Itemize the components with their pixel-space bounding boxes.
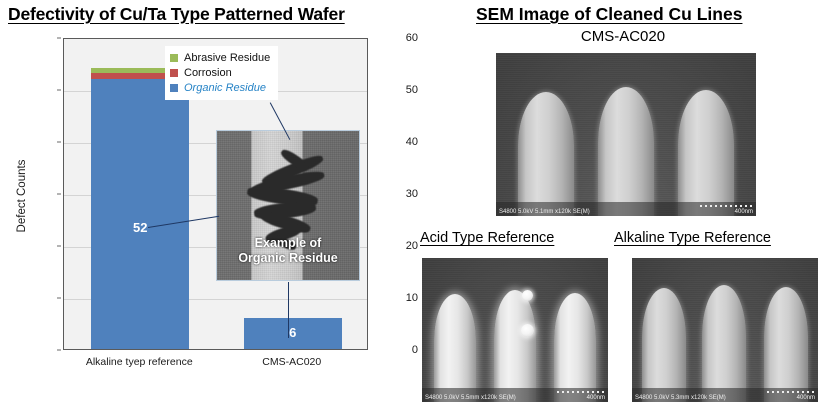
y-axis-tick-label: 10 [370,292,418,304]
legend-label: Organic Residue [184,82,266,94]
inset-caption: Example of Organic Residue [217,236,359,266]
sem-caption-alkaline-type: Alkaline Type Reference [614,230,771,246]
sem-image-acid-type-reference: S4800 5.0kV 5.5mm x120k SE(M) 400nm [422,258,608,402]
defect-particle [522,290,533,301]
sem-scale-text: 400nm [587,395,605,401]
y-axis-tick-mark [57,246,61,247]
slide-root: Defectivity of Cu/Ta Type Patterned Wafe… [0,0,828,407]
sem-info-text: S4800 5.0kV 5.1mm x120k SE(M) [499,209,590,215]
inset-caption-line-1: Example of [217,236,359,251]
legend-item-organic-residue[interactable]: Organic Residue [170,80,270,95]
sem-info-text: S4800 5.0kV 5.3mm x120k SE(M) [635,395,726,401]
organic-residue-inset-image: Example of Organic Residue [216,130,360,281]
defect-counts-bar-chart: Defect Counts 0102030405060 526 Alkaline… [0,30,418,380]
y-axis-tick-label: 30 [370,188,418,200]
scale-bar-ticks [557,391,604,393]
sem-panel-title: SEM Image of Cleaned Cu Lines [476,4,742,25]
legend-swatch [170,54,178,62]
legend-swatch [170,84,178,92]
y-axis-tick-label: 60 [370,32,418,44]
bar-value-label: 6 [244,325,342,340]
y-axis-tick-label: 40 [370,136,418,148]
y-axis-tick-mark [57,142,61,143]
sem-image-alkaline-type-reference: S4800 5.0kV 5.3mm x120k SE(M) 400nm [632,258,818,402]
sem-info-text: S4800 5.0kV 5.5mm x120k SE(M) [425,395,516,401]
bar-segment-organic-residue[interactable] [91,79,189,349]
sem-caption-acid-type: Acid Type Reference [420,230,554,246]
defect-particle [521,324,534,337]
legend-label: Corrosion [184,67,232,79]
y-axis-tick-label: 0 [370,344,418,356]
leader-line-to-bar-6 [288,282,289,338]
chart-legend: Abrasive ResidueCorrosionOrganic Residue [165,46,278,100]
y-axis-tick-mark [57,194,61,195]
legend-item-abrasive-residue[interactable]: Abrasive Residue [170,50,270,65]
defectivity-chart-panel: Defectivity of Cu/Ta Type Patterned Wafe… [0,0,418,407]
y-axis-title: Defect Counts [16,156,28,236]
legend-swatch [170,69,178,77]
y-axis-tick-label: 20 [370,240,418,252]
y-axis-tick-mark [57,298,61,299]
inset-caption-line-2: Organic Residue [217,251,359,266]
y-axis-tick-mark [57,90,61,91]
scale-bar-ticks [700,205,752,207]
sem-scale-text: 400nm [797,395,815,401]
y-axis-tick-mark [57,38,61,39]
sem-image-panel: SEM Image of Cleaned Cu Lines CMS-AC020 … [418,0,828,407]
sem-image-cms-ac020: S4800 5.0kV 5.1mm x120k SE(M) 400nm [496,53,756,216]
scale-bar-ticks [767,391,814,393]
x-axis-tick-label: CMS-AC020 [202,356,382,368]
y-axis-tick-label: 50 [370,84,418,96]
y-axis-tick-mark [57,350,61,351]
chart-panel-title: Defectivity of Cu/Ta Type Patterned Wafe… [8,4,345,25]
sem-scale-text: 400nm [735,209,753,215]
sem-panel-subtitle: CMS-AC020 [418,28,828,45]
legend-item-corrosion[interactable]: Corrosion [170,65,270,80]
legend-label: Abrasive Residue [184,52,270,64]
